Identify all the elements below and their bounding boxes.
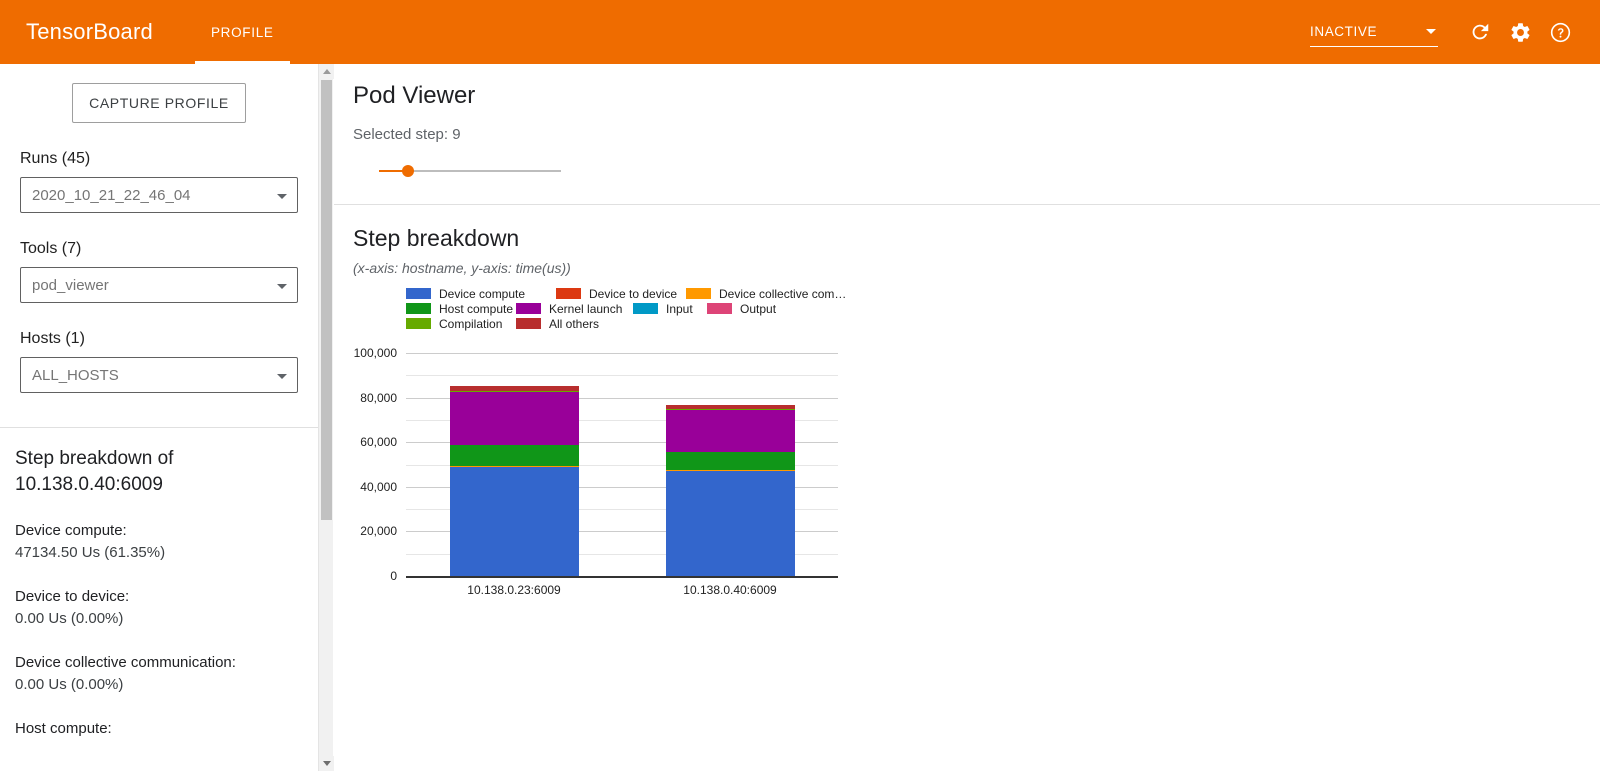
legend-swatch bbox=[406, 303, 431, 314]
runs-label: Runs (45) bbox=[20, 150, 298, 168]
x-axis-tick: 10.138.0.40:6009 bbox=[683, 583, 776, 597]
legend-item-host-compute[interactable]: Host compute bbox=[406, 302, 516, 316]
chart-plot: 020,00040,00060,00080,000100,000 10.138.… bbox=[406, 353, 838, 578]
detail-row: Device compute: 47134.50 Us (61.35%) bbox=[15, 520, 303, 564]
app-bar: TensorBoard PROFILE INACTIVE bbox=[0, 0, 1600, 64]
legend-label: Device collective com… bbox=[719, 287, 846, 301]
tools-selected-value: pod_viewer bbox=[32, 277, 109, 294]
legend-swatch bbox=[516, 303, 541, 314]
bar-segment-device-collective-communication[interactable] bbox=[450, 466, 579, 468]
detail-key: Host compute: bbox=[15, 718, 303, 740]
tools-select[interactable]: pod_viewer bbox=[20, 267, 298, 303]
gridline bbox=[406, 375, 838, 376]
legend-swatch bbox=[406, 318, 431, 329]
capture-profile-button[interactable]: CAPTURE PROFILE bbox=[72, 83, 246, 123]
chevron-down-icon bbox=[323, 761, 331, 766]
step-breakdown-details: Step breakdown of 10.138.0.40:6009 Devic… bbox=[0, 428, 318, 740]
hosts-selected-value: ALL_HOSTS bbox=[32, 367, 119, 384]
scrollbar-thumb[interactable] bbox=[321, 80, 332, 520]
legend-swatch bbox=[556, 288, 581, 299]
legend-item-kernel-launch[interactable]: Kernel launch bbox=[516, 302, 633, 316]
legend-swatch bbox=[516, 318, 541, 329]
detail-row: Device collective communication: 0.00 Us… bbox=[15, 652, 303, 696]
legend-item-input[interactable]: Input bbox=[633, 302, 707, 316]
bar-segment-host-compute[interactable] bbox=[450, 445, 579, 466]
y-axis-tick: 40,000 bbox=[360, 480, 397, 494]
legend-item-device-collective-communication[interactable]: Device collective com… bbox=[686, 287, 846, 301]
chart-title: Step breakdown bbox=[353, 225, 1600, 252]
tensorboard-logo: TensorBoard bbox=[26, 19, 153, 45]
sidebar-scrollbar[interactable] bbox=[318, 64, 333, 771]
bar-segment-all-others[interactable] bbox=[666, 405, 795, 409]
y-axis-tick: 80,000 bbox=[360, 391, 397, 405]
run-status-select[interactable]: INACTIVE bbox=[1310, 17, 1438, 47]
chevron-down-icon bbox=[277, 194, 287, 199]
legend-row: Host compute Kernel launch Input Output bbox=[406, 301, 866, 316]
chart-subtitle: (x-axis: hostname, y-axis: time(us)) bbox=[353, 260, 1600, 276]
y-axis-tick: 100,000 bbox=[354, 346, 397, 360]
legend-item-compilation[interactable]: Compilation bbox=[406, 317, 516, 331]
detail-row: Device to device: 0.00 Us (0.00%) bbox=[15, 586, 303, 630]
help-button[interactable] bbox=[1540, 12, 1580, 52]
detail-key: Device compute: bbox=[15, 520, 303, 542]
settings-button[interactable] bbox=[1500, 12, 1540, 52]
page-title: Pod Viewer bbox=[353, 82, 1600, 110]
bar-segment-compilation[interactable] bbox=[450, 391, 579, 392]
y-axis-tick: 60,000 bbox=[360, 435, 397, 449]
hosts-select[interactable]: ALL_HOSTS bbox=[20, 357, 298, 393]
legend-item-all-others[interactable]: All others bbox=[516, 317, 599, 331]
detail-key: Device collective communication: bbox=[15, 652, 303, 674]
scroll-up-button[interactable] bbox=[319, 64, 334, 79]
gear-icon bbox=[1509, 21, 1532, 44]
legend-item-device-compute[interactable]: Device compute bbox=[406, 287, 556, 301]
help-icon bbox=[1549, 21, 1572, 44]
appbar-actions: INACTIVE bbox=[1310, 12, 1580, 52]
hosts-field: Hosts (1) ALL_HOSTS bbox=[20, 330, 298, 393]
tab-profile[interactable]: PROFILE bbox=[195, 0, 290, 64]
gridline bbox=[406, 353, 838, 354]
reload-button[interactable] bbox=[1460, 12, 1500, 52]
legend-row: Device compute Device to device Device c… bbox=[406, 286, 866, 301]
legend-label: Device to device bbox=[589, 287, 677, 301]
bar-segment-compilation[interactable] bbox=[666, 409, 795, 410]
y-axis-tick: 20,000 bbox=[360, 524, 397, 538]
legend-label: Kernel launch bbox=[549, 302, 622, 316]
legend-row: Compilation All others bbox=[406, 316, 866, 331]
bar-segment-kernel-launch[interactable] bbox=[450, 392, 579, 445]
legend-swatch bbox=[707, 303, 732, 314]
x-axis-tick: 10.138.0.23:6009 bbox=[467, 583, 560, 597]
detail-title: Step breakdown of 10.138.0.40:6009 bbox=[15, 446, 303, 498]
detail-value: 0.00 Us (0.00%) bbox=[15, 608, 303, 630]
chevron-down-icon bbox=[1426, 29, 1436, 34]
pod-viewer-header: Pod Viewer Selected step: 9 bbox=[334, 64, 1600, 181]
legend-label: Output bbox=[740, 302, 776, 316]
bar-10.138.0.40:6009[interactable]: 10.138.0.40:6009 bbox=[666, 405, 795, 576]
step-breakdown-card: Step breakdown (x-axis: hostname, y-axis… bbox=[334, 205, 1600, 586]
step-slider[interactable] bbox=[379, 161, 561, 181]
legend-label: Device compute bbox=[439, 287, 525, 301]
chevron-down-icon bbox=[277, 374, 287, 379]
reload-icon bbox=[1469, 21, 1491, 43]
bar-segment-all-others[interactable] bbox=[450, 386, 579, 391]
legend-label: Host compute bbox=[439, 302, 513, 316]
left-sidebar: CAPTURE PROFILE Runs (45) 2020_10_21_22_… bbox=[0, 64, 318, 771]
x-axis-line bbox=[406, 576, 838, 578]
legend-item-device-to-device[interactable]: Device to device bbox=[556, 287, 686, 301]
selected-step-label: Selected step: 9 bbox=[353, 126, 1600, 143]
y-axis-tick: 0 bbox=[390, 569, 397, 583]
hosts-label: Hosts (1) bbox=[20, 330, 298, 348]
tab-profile-label: PROFILE bbox=[211, 25, 274, 40]
tools-label: Tools (7) bbox=[20, 240, 298, 258]
chevron-down-icon bbox=[277, 284, 287, 289]
legend-swatch bbox=[406, 288, 431, 299]
bar-segment-device-compute[interactable] bbox=[666, 471, 795, 576]
detail-value: 47134.50 Us (61.35%) bbox=[15, 542, 303, 564]
bar-segment-host-compute[interactable] bbox=[666, 452, 795, 470]
detail-key: Device to device: bbox=[15, 586, 303, 608]
scroll-down-button[interactable] bbox=[319, 756, 334, 771]
legend-label: Input bbox=[666, 302, 693, 316]
runs-select[interactable]: 2020_10_21_22_46_04 bbox=[20, 177, 298, 213]
chart-legend: Device compute Device to device Device c… bbox=[406, 286, 866, 331]
main-panel: Pod Viewer Selected step: 9 Step breakdo… bbox=[334, 64, 1600, 771]
nav-tabs: PROFILE bbox=[195, 0, 290, 64]
detail-row: Host compute: bbox=[15, 718, 303, 740]
run-status-label: INACTIVE bbox=[1310, 24, 1377, 39]
slider-thumb[interactable] bbox=[402, 165, 414, 177]
runs-field: Runs (45) 2020_10_21_22_46_04 bbox=[20, 150, 298, 213]
tools-field: Tools (7) pod_viewer bbox=[20, 240, 298, 303]
runs-selected-value: 2020_10_21_22_46_04 bbox=[32, 187, 191, 204]
legend-label: Compilation bbox=[439, 317, 502, 331]
detail-value: 0.00 Us (0.00%) bbox=[15, 674, 303, 696]
bar-segment-device-collective-communication[interactable] bbox=[666, 470, 795, 471]
capture-profile-row: CAPTURE PROFILE bbox=[0, 64, 318, 123]
bar-segment-device-compute[interactable] bbox=[450, 467, 579, 576]
legend-swatch bbox=[633, 303, 658, 314]
bar-10.138.0.23:6009[interactable]: 10.138.0.23:6009 bbox=[450, 386, 579, 576]
bar-segment-kernel-launch[interactable] bbox=[666, 410, 795, 452]
legend-label: All others bbox=[549, 317, 599, 331]
legend-swatch bbox=[686, 288, 711, 299]
chart-area: Device compute Device to device Device c… bbox=[353, 286, 873, 586]
chevron-up-icon bbox=[323, 69, 331, 74]
legend-item-output[interactable]: Output bbox=[707, 302, 776, 316]
